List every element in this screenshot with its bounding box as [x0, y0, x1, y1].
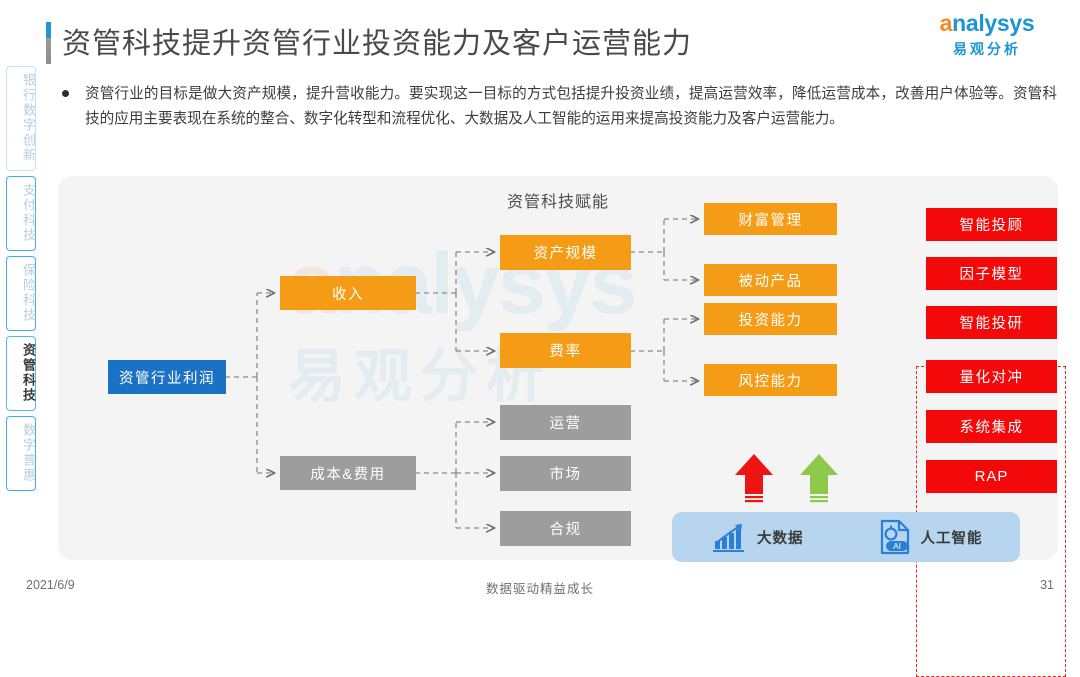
sidebar-item-bank[interactable]: 银行数字创新	[6, 66, 36, 171]
node-quant-hedging[interactable]: 量化对冲	[926, 360, 1057, 393]
diagram-card: 资管科技赋能 analysys 易观分析	[58, 176, 1058, 560]
node-smart-research[interactable]: 智能投研	[926, 306, 1057, 339]
logo-wordmark: analysys	[912, 12, 1062, 35]
node-revenue[interactable]: 收入	[280, 276, 416, 310]
node-rap[interactable]: RAP	[926, 460, 1057, 493]
node-smart-advisor[interactable]: 智能投顾	[926, 208, 1057, 241]
red-up-arrow-icon	[733, 452, 775, 504]
node-factor-model[interactable]: 因子模型	[926, 257, 1057, 290]
diagram-title: 资管科技赋能	[58, 188, 1058, 212]
technology-bar: 大数据 AI 人工智能	[672, 512, 1020, 562]
sidebar-item-insurance[interactable]: 保险科技	[6, 256, 36, 331]
node-operations[interactable]: 运营	[500, 405, 631, 440]
node-passive-product[interactable]: 被动产品	[704, 264, 837, 296]
logo-word-rest: nalysys	[952, 10, 1034, 36]
bullet-paragraph: 资管行业的目标是做大资产规模，提升营收能力。要实现这一目标的方式包括提升投资业绩…	[62, 82, 1057, 132]
svg-text:AI: AI	[892, 541, 900, 551]
node-investment-capability[interactable]: 投资能力	[704, 303, 837, 335]
logo-letter-a: a	[940, 10, 953, 36]
tech-item-bigdata[interactable]: 大数据	[712, 521, 804, 553]
page-title: 资管科技提升资管行业投资能力及客户运营能力	[62, 20, 692, 62]
analysys-logo: analysys 易观分析	[912, 12, 1062, 59]
sidebar-item-payment[interactable]: 支付科技	[6, 176, 36, 251]
tech-label-ai: 人工智能	[921, 527, 983, 548]
node-market[interactable]: 市场	[500, 456, 631, 491]
footer-slogan: 数据驱动精益成长	[0, 578, 1080, 597]
sidebar-item-inclusive-finance[interactable]: 数字普惠	[6, 416, 36, 491]
node-wealth-management[interactable]: 财富管理	[704, 203, 837, 235]
sidebar-tabs: 银行数字创新 支付科技 保险科技 资管科技 数字普惠	[6, 66, 40, 496]
node-cost-expense[interactable]: 成本&费用	[280, 456, 416, 490]
green-up-arrow-icon	[798, 452, 840, 504]
node-risk-control-capability[interactable]: 风控能力	[704, 364, 837, 396]
tech-item-ai[interactable]: AI 人工智能	[878, 518, 983, 556]
node-system-integration[interactable]: 系统集成	[926, 410, 1057, 443]
node-asset-scale[interactable]: 资产规模	[500, 235, 631, 270]
node-fee-rate[interactable]: 费率	[500, 333, 631, 368]
bullet-dot-icon	[62, 90, 69, 97]
footer-page-number: 31	[1040, 578, 1054, 592]
slide: 资管科技提升资管行业投资能力及客户运营能力 analysys 易观分析 银行数字…	[0, 0, 1080, 608]
title-accent-bar	[46, 22, 51, 64]
sidebar-item-asset-management[interactable]: 资管科技	[6, 336, 36, 411]
ai-document-icon: AI	[878, 518, 912, 556]
logo-chinese: 易观分析	[912, 39, 1062, 59]
bar-chart-icon	[712, 521, 748, 553]
tech-label-bigdata: 大数据	[757, 527, 804, 548]
node-compliance[interactable]: 合规	[500, 511, 631, 546]
bullet-text: 资管行业的目标是做大资产规模，提升营收能力。要实现这一目标的方式包括提升投资业绩…	[85, 82, 1057, 132]
node-root-profit[interactable]: 资管行业利润	[108, 360, 226, 394]
footer: 2021/6/9 数据驱动精益成长 31	[0, 578, 1080, 600]
